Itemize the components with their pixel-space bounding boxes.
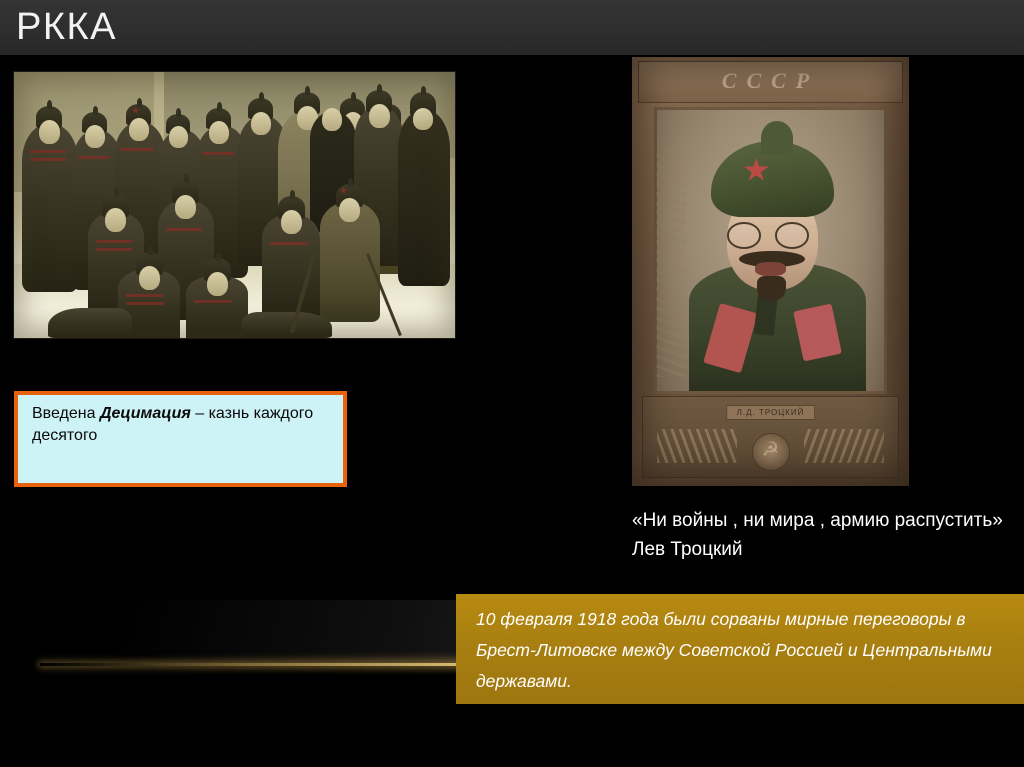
decimation-prefix: Введена <box>32 405 100 422</box>
page-title: РККА <box>16 4 117 50</box>
presentation-slide: РККА <box>0 0 1024 767</box>
red-army-soldiers-photo <box>14 72 455 338</box>
slide-header-band <box>0 0 1024 55</box>
poster-name-plate: Л.Д. ТРОЦКИЙ <box>726 405 816 420</box>
hammer-sickle-icon <box>752 433 790 471</box>
brest-litovsk-fact-box: 10 февраля 1918 года были сорваны мирные… <box>456 594 1024 704</box>
decimation-emphasis: Децимация <box>100 405 191 422</box>
decimation-callout-text: Введена Децимация – казнь каждого десято… <box>32 403 333 447</box>
decimation-callout-box: Введена Децимация – казнь каждого десято… <box>14 391 347 487</box>
brest-litovsk-fact-text: 10 февраля 1918 года были сорваны мирные… <box>476 604 1010 697</box>
trotsky-quote-text: «Ни войны , ни мира , армию распустить» … <box>632 506 1012 564</box>
trotsky-portrait-poster: СССР Л.Д. ТРОЦКИЙ <box>632 57 909 486</box>
poster-banner-text: СССР <box>639 68 902 94</box>
